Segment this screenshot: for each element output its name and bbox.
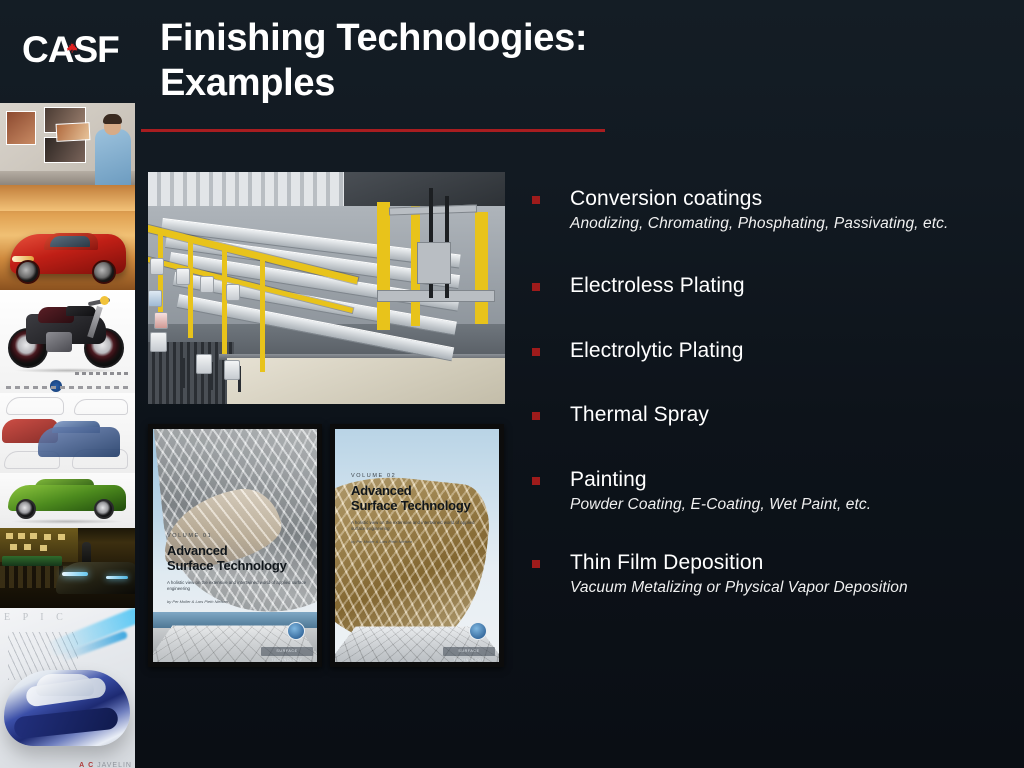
book-subtitle: A holistic view on the extensive and int… [351, 520, 489, 533]
list-item-label: Electroless Plating [570, 273, 998, 300]
page-title-line-1: Finishing Technologies: [160, 16, 780, 61]
page-title: Finishing Technologies: Examples [160, 16, 780, 106]
list-item-label: Thin Film Deposition [570, 550, 998, 577]
list-item-label: Painting [570, 467, 998, 494]
book-title-line-1: Advanced [351, 483, 489, 498]
list-item-label: Thermal Spray [570, 402, 998, 429]
bullet-square-icon [532, 477, 540, 485]
bullet-square-icon [532, 412, 540, 420]
publisher-badge-icon [469, 622, 487, 640]
bullet-square-icon [532, 560, 540, 568]
book-author: by Per Moller & Lars Pleth Nielsen [351, 539, 489, 544]
maple-leaf-icon [64, 40, 79, 57]
list-item-conversion-coatings: Conversion coatings Anodizing, Chromatin… [528, 186, 998, 235]
thumbnail-car-sketch-sheet [0, 393, 135, 473]
thumbnail-green-concept-car-render [0, 473, 135, 528]
thumbnail-night-street-car-render [0, 528, 135, 608]
book-title-line-2: Surface Technology [167, 558, 307, 573]
book-author: by Per Moller & Lars Pleth Nielsen [167, 599, 307, 604]
book-cover-volume-01: VOLUME 01 Advanced Surface Technology A … [148, 424, 322, 667]
list-item-label: Electrolytic Plating [570, 338, 998, 365]
list-item-label: Conversion coatings [570, 186, 998, 213]
list-item-thin-film-deposition: Thin Film Deposition Vacuum Metalizing o… [528, 550, 998, 599]
book-volume-label: VOLUME 01 [167, 533, 307, 539]
page-title-line-2: Examples [160, 61, 780, 106]
javelin-watermark: A C JAVELIN [79, 762, 132, 768]
thumbnail-motorcycle-concept-sketch [0, 290, 135, 393]
publisher-badge-icon [287, 622, 305, 640]
industrial-plating-line-photo [148, 172, 505, 404]
bullet-square-icon [532, 196, 540, 204]
bullet-square-icon [532, 283, 540, 291]
bullet-square-icon [532, 348, 540, 356]
epic-watermark-text: E P I C [4, 612, 68, 623]
slide-canvas: E P I C A C JAVELIN CASF Finishing Techn… [0, 0, 1024, 768]
book-subtitle: A holistic view on the extensive and int… [167, 580, 307, 593]
finishing-technologies-list: Conversion coatings Anodizing, Chromatin… [528, 186, 998, 599]
list-item-electrolytic-plating: Electrolytic Plating [528, 338, 998, 365]
thumbnail-red-sports-car-render [0, 185, 135, 290]
title-divider-line [141, 129, 605, 132]
left-image-strip: E P I C A C JAVELIN [0, 103, 135, 768]
list-item-sublabel: Powder Coating, E-Coating, Wet Paint, et… [570, 495, 998, 516]
list-item-electroless-plating: Electroless Plating [528, 273, 998, 300]
publisher-plate: SURFACE TECHNOLOGY [261, 647, 313, 656]
list-item-sublabel: Anodizing, Chromating, Phosphating, Pass… [570, 214, 998, 235]
list-item-painting: Painting Powder Coating, E-Coating, Wet … [528, 467, 998, 516]
book-cover-volume-02: VOLUME 02 Advanced Surface Technology A … [330, 424, 504, 667]
book-title-line-1: Advanced [167, 543, 307, 558]
casf-logo: CASF [22, 28, 134, 72]
thumbnail-design-studio-wall-photo [0, 103, 135, 185]
publisher-plate: SURFACE TECHNOLOGY [443, 647, 495, 656]
thumbnail-blue-vehicle-concept-render: E P I C A C JAVELIN [0, 608, 135, 768]
list-item-thermal-spray: Thermal Spray [528, 402, 998, 429]
list-item-sublabel: Vacuum Metalizing or Physical Vapor Depo… [570, 578, 998, 599]
book-title-line-2: Surface Technology [351, 498, 489, 513]
book-volume-label: VOLUME 02 [351, 473, 489, 479]
